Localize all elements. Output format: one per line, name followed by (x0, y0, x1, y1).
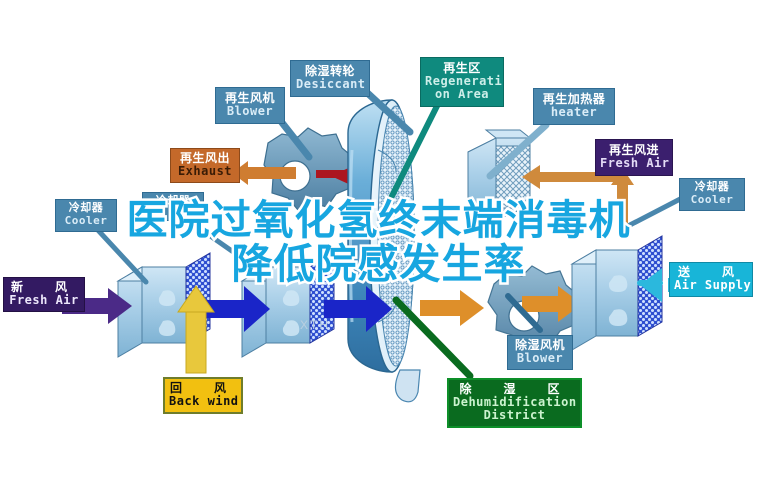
label-exhaust: 再生风出 Exhaust (170, 148, 240, 183)
label-dehum-blower-cn: 除湿风机 (512, 339, 568, 352)
orange-arrow-dehum-1 (420, 290, 484, 326)
label-desiccant-wheel: 除湿转轮 Desiccant (290, 60, 370, 97)
label-regen-blower-en: Blower (221, 105, 279, 118)
label-cooler-left: 冷却器 Cooler (55, 199, 117, 232)
label-back-wind-cn: 回 风 (169, 382, 237, 395)
label-exhaust-cn: 再生风出 (175, 152, 235, 165)
label-regen-blower-cn: 再生风机 (221, 92, 279, 105)
label-regen-heater: 再生加热器 heater (533, 88, 615, 125)
label-regen-heater-cn: 再生加热器 (538, 93, 610, 106)
label-dehum-district-cn: 除 湿 区 (453, 383, 576, 396)
label-dehum-district: 除 湿 区 Dehumidification District (447, 378, 582, 428)
label-regen-fresh-air: 再生风进 Fresh Air (595, 139, 673, 176)
label-fresh-air: 新 风 Fresh Air (3, 277, 85, 312)
label-regen-fresh-air-cn: 再生风进 (600, 144, 668, 157)
label-dehum-blower-en: Blower (512, 352, 568, 365)
label-air-supply: 送 风 Air Supply (669, 262, 753, 297)
label-exhaust-en: Exhaust (175, 165, 235, 178)
label-regen-area-en1: Regenerati (425, 75, 499, 88)
label-regen-area-en2: on Area (425, 88, 499, 101)
label-dehum-blower: 除湿风机 Blower (507, 335, 573, 370)
label-cooler-left-en: Cooler (60, 215, 112, 227)
label-desiccant-wheel-en: Desiccant (296, 78, 364, 91)
label-regen-blower: 再生风机 Blower (215, 87, 285, 124)
supply-unit-graphic (572, 236, 662, 350)
watermark-text: XTH (300, 318, 330, 332)
label-regen-fresh-air-en: Fresh Air (600, 157, 668, 170)
label-desiccant-wheel-cn: 除湿转轮 (296, 65, 364, 78)
label-back-wind-en: Back wind (169, 395, 237, 408)
label-regen-heater-en: heater (538, 106, 610, 119)
desiccant-wheel-graphic (348, 100, 420, 402)
label-air-supply-en: Air Supply (674, 279, 748, 292)
label-cooler-mid: 冷却器 (142, 192, 204, 221)
label-air-supply-cn: 送 风 (674, 266, 748, 279)
label-dehum-district-en2: District (453, 409, 576, 422)
label-fresh-air-en: Fresh Air (8, 294, 80, 307)
label-cooler-mid-cn: 冷却器 (147, 196, 199, 208)
label-cooler-right-en: Cooler (684, 194, 740, 206)
label-regen-area-cn: 再生区 (425, 62, 499, 75)
dehumidifier-schematic (0, 0, 757, 488)
label-dehum-district-en1: Dehumidification (453, 396, 576, 409)
label-regen-area: 再生区 Regenerati on Area (420, 57, 504, 107)
diagram-canvas: XTH 再生风机 Blower 除湿转轮 Desiccant 再生区 Regen… (0, 0, 757, 488)
label-back-wind: 回 风 Back wind (163, 377, 243, 414)
label-cooler-right: 冷却器 Cooler (679, 178, 745, 211)
label-fresh-air-cn: 新 风 (8, 281, 80, 294)
